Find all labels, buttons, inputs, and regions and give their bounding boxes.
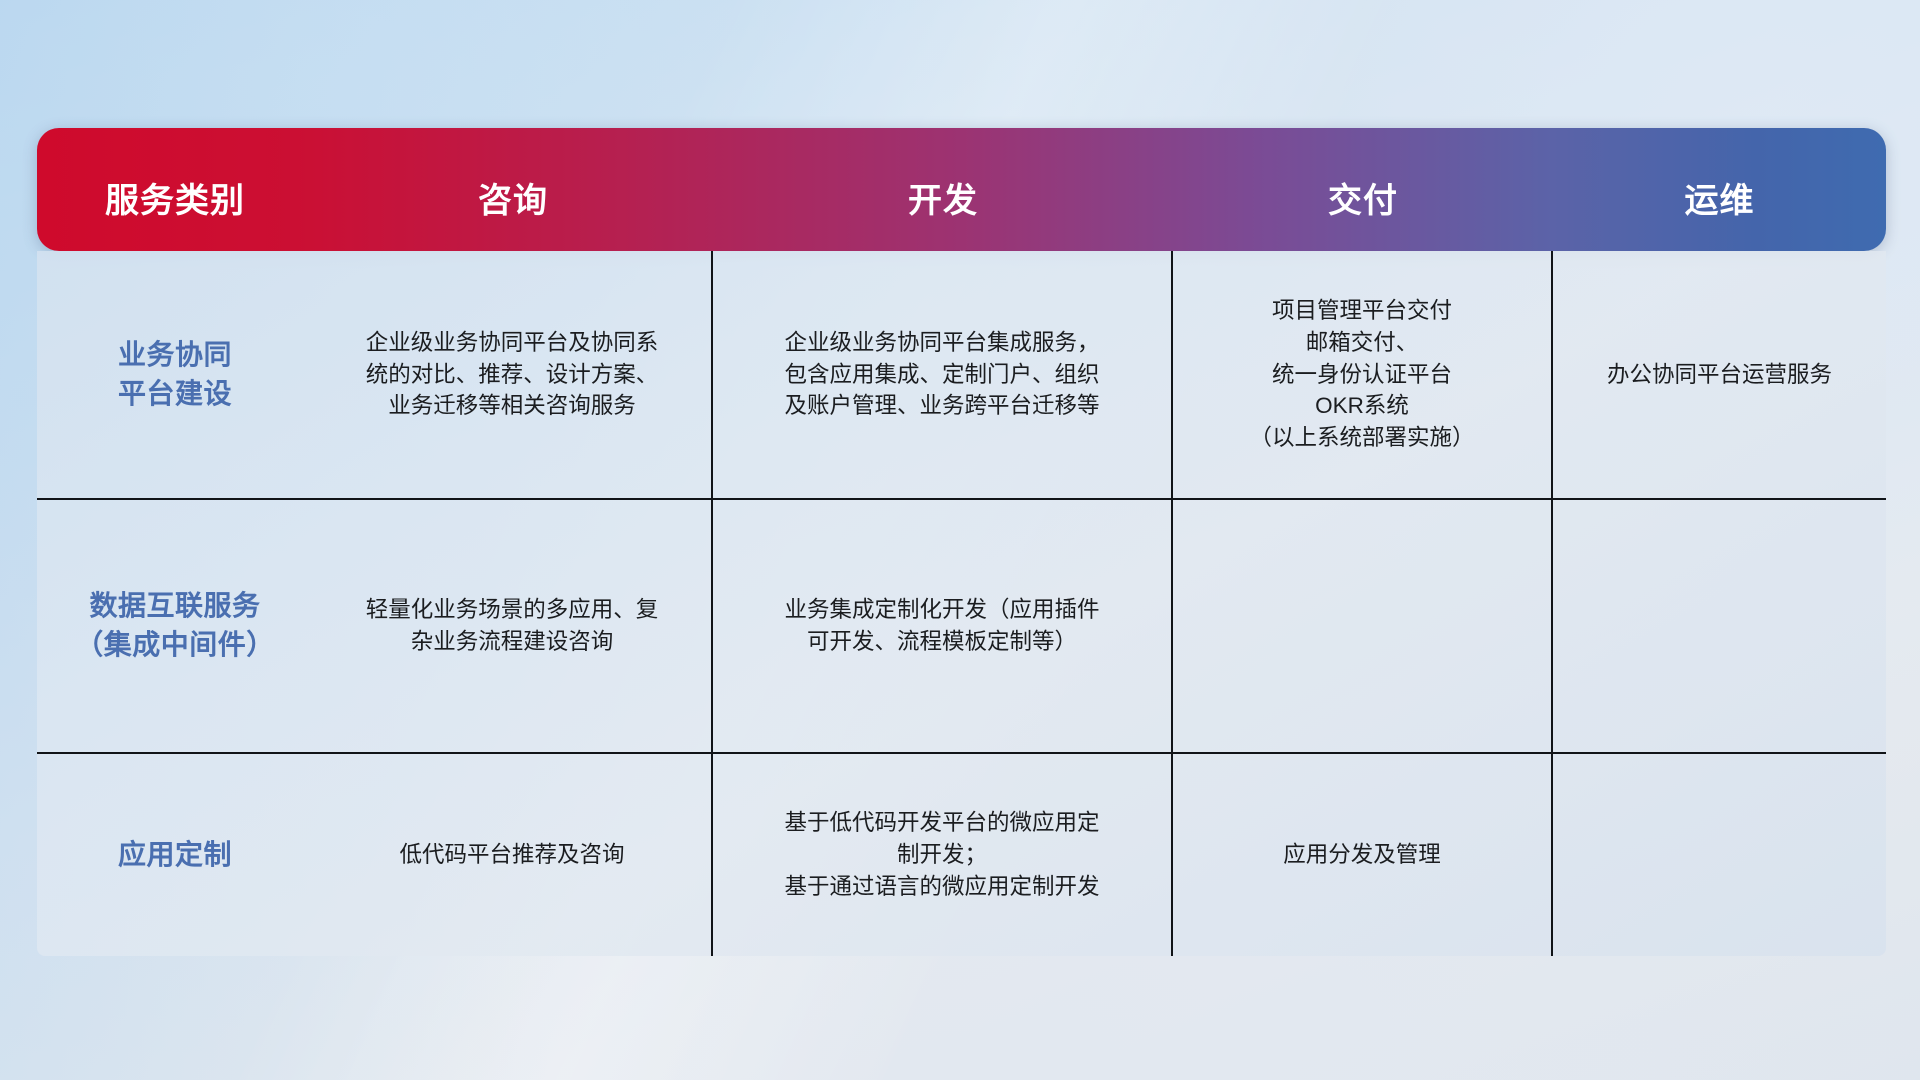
row-label-business-collaboration: 业务协同 平台建设 <box>37 251 313 498</box>
table-row: 数据互联服务 （集成中间件） 轻量化业务场景的多应用、复 杂业务流程建设咨询 业… <box>37 500 1886 754</box>
cell-row1-operations: 办公协同平台运营服务 <box>1553 251 1886 498</box>
service-matrix-table: 服务类别 咨询 开发 交付 运维 业务协同 平台建设 企业级业务协同平台及协同系… <box>37 128 1886 956</box>
cell-row1-delivery: 项目管理平台交付 邮箱交付、 统一身份认证平台 OKR系统 （以上系统部署实施） <box>1173 251 1553 498</box>
column-header-consulting: 咨询 <box>313 162 713 218</box>
row-label-data-interconnect: 数据互联服务 （集成中间件） <box>37 500 313 752</box>
cell-row2-delivery <box>1173 500 1553 752</box>
row-label-app-customization: 应用定制 <box>37 754 313 956</box>
cell-row3-operations <box>1553 754 1886 956</box>
cell-row2-operations <box>1553 500 1886 752</box>
cell-row3-delivery: 应用分发及管理 <box>1173 754 1553 956</box>
table-row: 应用定制 低代码平台推荐及咨询 基于低代码开发平台的微应用定 制开发； 基于通过… <box>37 754 1886 956</box>
table-row: 业务协同 平台建设 企业级业务协同平台及协同系 统的对比、推荐、设计方案、 业务… <box>37 251 1886 500</box>
cell-row2-consulting: 轻量化业务场景的多应用、复 杂业务流程建设咨询 <box>313 500 713 752</box>
cell-row2-development: 业务集成定制化开发（应用插件 可开发、流程模板定制等） <box>713 500 1173 752</box>
cell-row1-consulting: 企业级业务协同平台及协同系 统的对比、推荐、设计方案、 业务迁移等相关咨询服务 <box>313 251 713 498</box>
column-header-delivery: 交付 <box>1173 162 1553 218</box>
cell-row3-consulting: 低代码平台推荐及咨询 <box>313 754 713 956</box>
column-header-development: 开发 <box>713 162 1173 218</box>
table-header-row: 服务类别 咨询 开发 交付 运维 <box>37 128 1886 251</box>
cell-row3-development: 基于低代码开发平台的微应用定 制开发； 基于通过语言的微应用定制开发 <box>713 754 1173 956</box>
table-body: 业务协同 平台建设 企业级业务协同平台及协同系 统的对比、推荐、设计方案、 业务… <box>37 251 1886 956</box>
column-header-category: 服务类别 <box>37 162 313 218</box>
cell-row1-development: 企业级业务协同平台集成服务， 包含应用集成、定制门户、组织 及账户管理、业务跨平… <box>713 251 1173 498</box>
column-header-operations: 运维 <box>1553 162 1886 218</box>
